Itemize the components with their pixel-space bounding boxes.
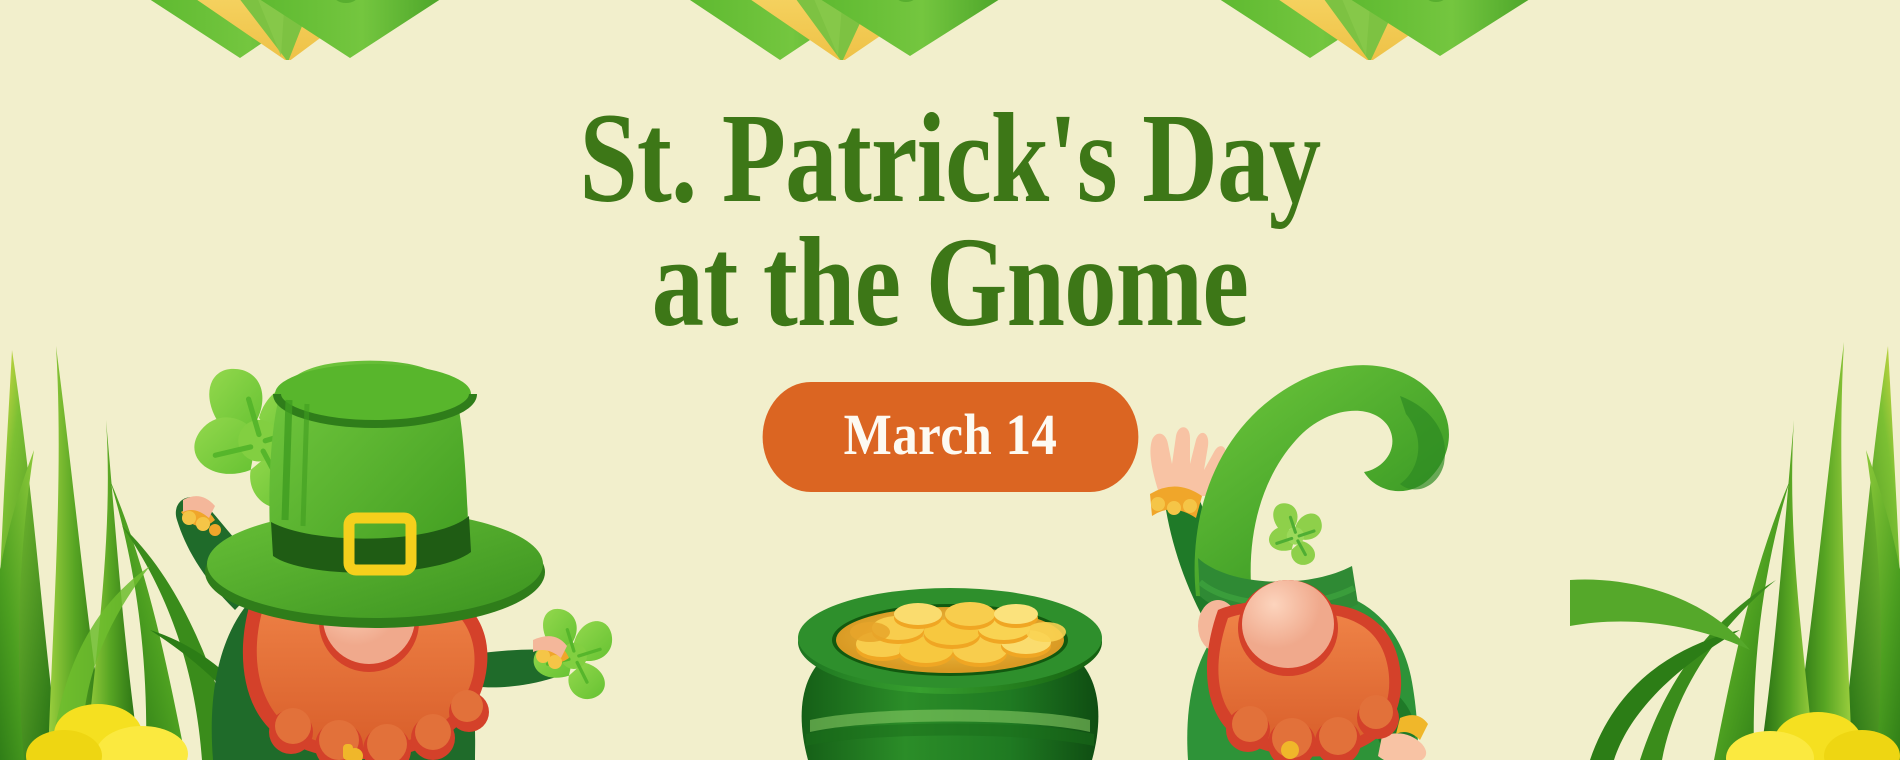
date-badge[interactable]: March 14	[762, 382, 1138, 492]
clover-patch-icon	[1269, 503, 1322, 565]
gnome-right-nose	[1242, 580, 1334, 668]
title-line-2: at the Gnome	[579, 220, 1320, 344]
gnome-right	[1100, 360, 1540, 760]
bunting-decoration	[0, 0, 1900, 60]
grass-blades-right	[1570, 330, 1900, 760]
page-title: St. Patrick's Day at the Gnome	[579, 96, 1320, 344]
st-patricks-day-banner: St. Patrick's Day at the Gnome March 14	[0, 0, 1900, 760]
title-line-1: St. Patrick's Day	[579, 87, 1320, 229]
gnome-right-button	[1281, 741, 1299, 759]
pot-of-gold	[790, 570, 1110, 760]
gnome-left-leprechaun	[85, 360, 615, 760]
